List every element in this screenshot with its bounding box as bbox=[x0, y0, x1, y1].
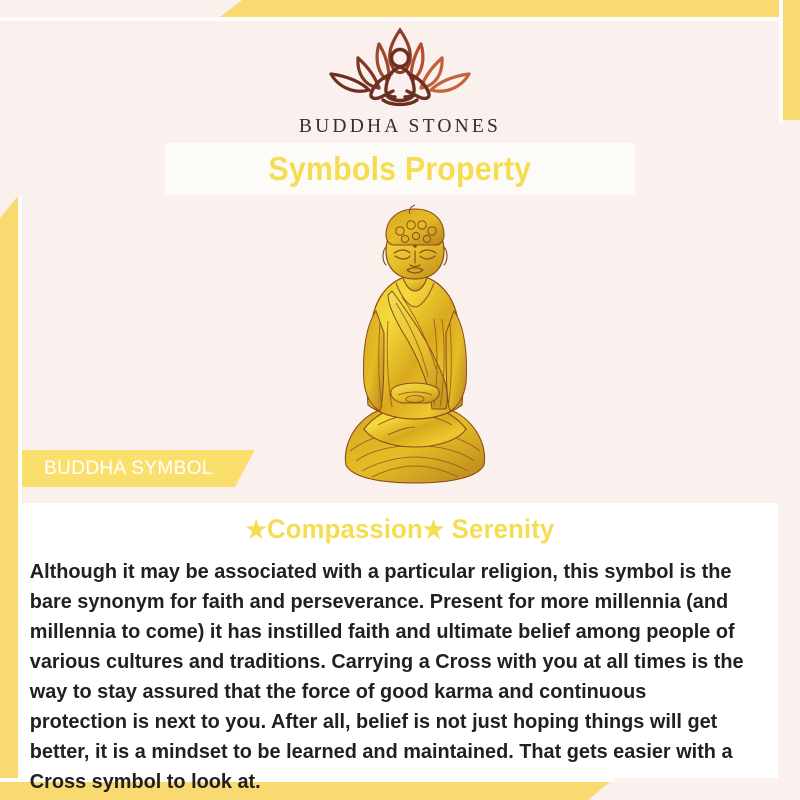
golden-seated-buddha-illustration bbox=[332, 203, 498, 495]
content-body: Although it may be associated with a par… bbox=[22, 557, 755, 797]
decor-band-left bbox=[0, 196, 18, 782]
star-icon-left: ★ bbox=[246, 516, 267, 544]
star-icon-right: ★ bbox=[423, 516, 444, 544]
content-subtitle: ★Compassion★ Serenity bbox=[41, 514, 759, 545]
page-title: Symbols Property bbox=[269, 150, 532, 188]
hero-image bbox=[332, 203, 498, 495]
brand-logo: BUDDHA STONES bbox=[0, 18, 800, 138]
section-ribbon-label: BUDDHA SYMBOL bbox=[44, 458, 213, 480]
title-banner: Symbols Property bbox=[165, 143, 635, 195]
section-ribbon: BUDDHA SYMBOL bbox=[22, 450, 255, 487]
lotus-meditation-figure-icon bbox=[305, 18, 495, 114]
brand-wordmark: BUDDHA STONES bbox=[0, 116, 800, 138]
decor-band-top bbox=[220, 0, 800, 17]
content-panel: ★Compassion★ Serenity Although it may be… bbox=[22, 503, 778, 778]
subtitle-term-two: Serenity bbox=[452, 514, 555, 544]
subtitle-term-one: Compassion bbox=[267, 514, 423, 544]
poster-canvas: BUDDHA STONES Symbols Property bbox=[0, 0, 800, 800]
